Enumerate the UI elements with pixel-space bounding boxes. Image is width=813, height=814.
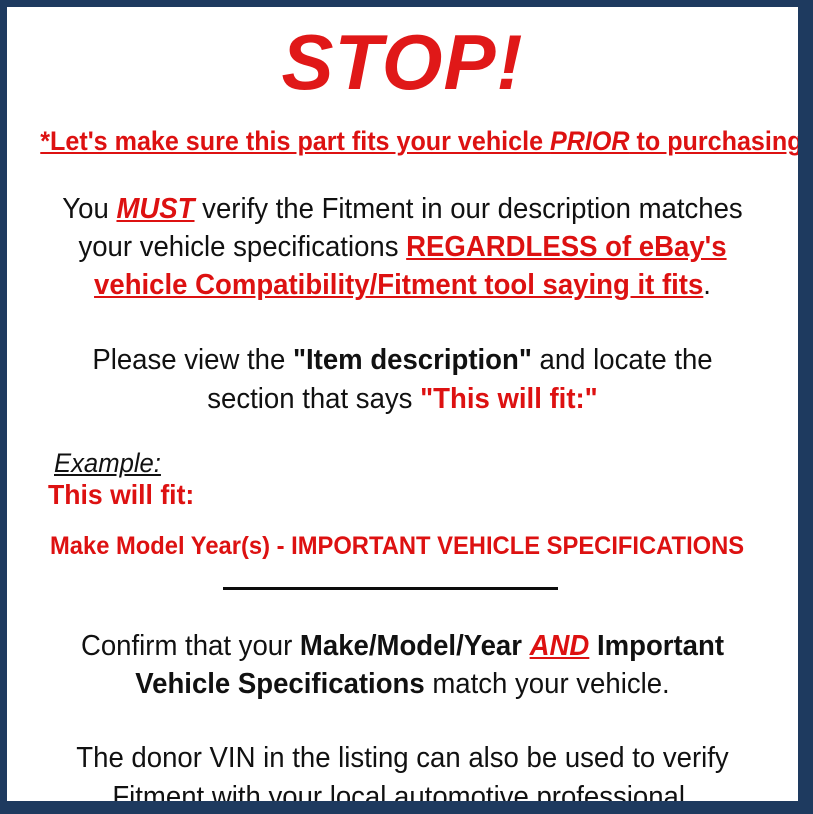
example-spec-line: Make Model Year(s) - IMPORTANT VEHICLE S… xyxy=(50,533,761,561)
fitment-notice-card: STOP! *Let's make sure this part fits yo… xyxy=(0,0,813,814)
stop-heading: STOP! xyxy=(7,23,798,101)
view-description-paragraph: Please view the "Item description" and l… xyxy=(27,341,778,418)
must-verify-paragraph: You MUST verify the Fitment in our descr… xyxy=(27,190,778,305)
example-label-row: Example: xyxy=(48,448,798,478)
confirm-paragraph: Confirm that your Make/Model/Year AND Im… xyxy=(27,627,778,704)
must-keyword: MUST xyxy=(116,193,194,225)
confirm-part2: match your vehicle. xyxy=(425,668,670,700)
tagline-tail: to purchasing* xyxy=(630,126,798,156)
divider-container xyxy=(7,587,798,593)
vin-paragraph: The donor VIN in the listing can also be… xyxy=(27,739,778,801)
tagline-text: *Let's make sure this part fits your veh… xyxy=(35,127,771,157)
example-label: Example: xyxy=(54,448,161,478)
must-part3: . xyxy=(703,269,711,301)
must-part1: You xyxy=(62,193,116,225)
view-part1: Please view the xyxy=(92,344,293,376)
item-description-quote: "Item description" xyxy=(293,344,532,376)
horizontal-divider xyxy=(223,587,558,590)
confirm-part1: Confirm that your xyxy=(81,630,300,662)
example-fit-header: This will fit: xyxy=(48,479,761,511)
tagline-lead: *Let's make sure this part fits your veh… xyxy=(40,126,550,156)
and-keyword: AND xyxy=(530,630,590,662)
example-block: Example: This will fit: Make Model Year(… xyxy=(7,448,798,561)
make-model-year-emphasis: Make/Model/Year xyxy=(300,630,522,662)
notice-inner-panel: STOP! *Let's make sure this part fits yo… xyxy=(7,7,798,801)
this-will-fit-quote: "This will fit:" xyxy=(420,383,598,415)
tagline-prior-emphasis: PRIOR xyxy=(550,126,630,156)
